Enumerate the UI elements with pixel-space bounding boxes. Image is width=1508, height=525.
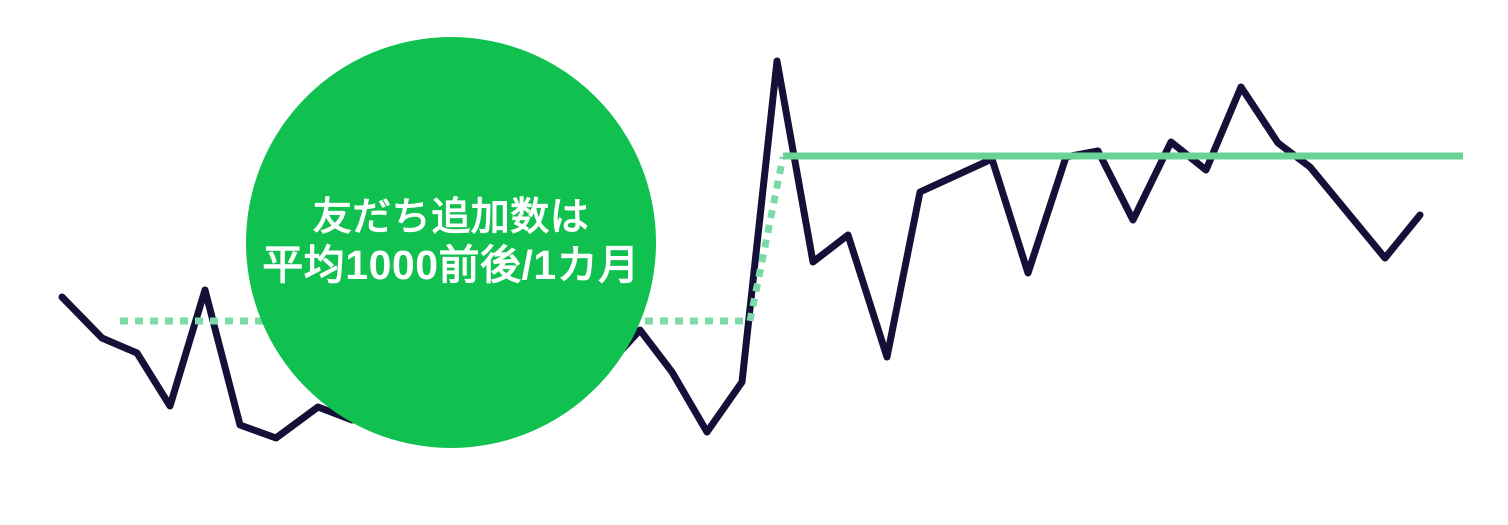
callout-line-1: 友だち追加数は — [313, 195, 590, 241]
infographic-canvas: 友だち追加数は 平均1000前後/1カ月 — [0, 0, 1508, 525]
callout-badge-circle: 友だち追加数は 平均1000前後/1カ月 — [246, 37, 656, 448]
line-chart — [0, 0, 1508, 525]
callout-line-2: 平均1000前後/1カ月 — [262, 241, 639, 289]
